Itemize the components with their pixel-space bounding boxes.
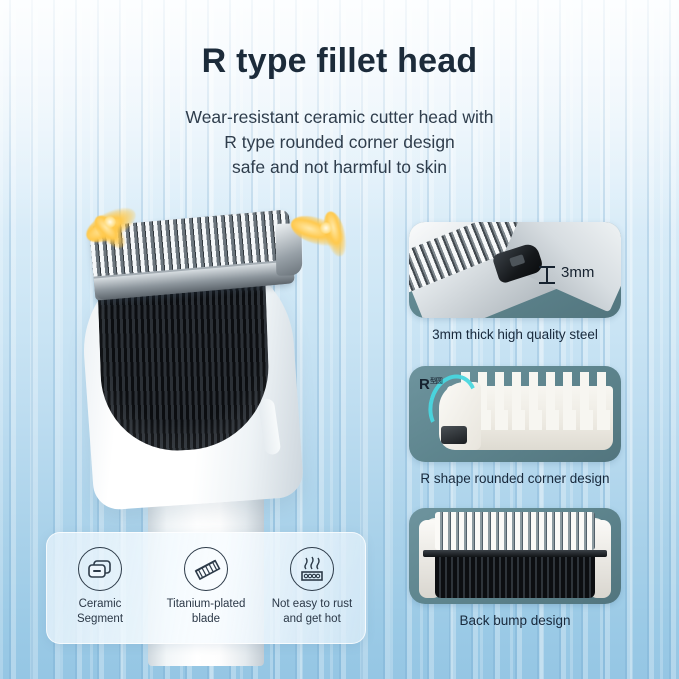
subtitle-line-1: Wear-resistant ceramic cutter head with (0, 105, 679, 130)
comb-teeth (461, 372, 611, 430)
heat-waves-glyph (291, 548, 333, 590)
page-title: R type fillet head (0, 42, 679, 81)
dimension-annotation: 3mm (561, 264, 594, 281)
panel-caption: Back bump design (409, 613, 621, 628)
feature-badge-card: Ceramic Segment Titanium-plated blade (46, 532, 366, 644)
feature-label: Ceramic Segment (50, 597, 150, 627)
r-marker-label: R型圆 (419, 376, 442, 393)
panel-thumb-blade-head (409, 508, 621, 604)
feature-label-line2: Segment (77, 613, 123, 625)
r-marker-superscript: 型圆 (430, 378, 442, 385)
subtitle-line-3: safe and not harmful to skin (0, 155, 679, 180)
product-infographic: R type fillet head Wear-resistant cerami… (0, 0, 679, 679)
panel-thumb-angled-blade: 3mm (409, 222, 621, 318)
caliper-marker-icon (539, 266, 557, 284)
feature-label-line1: Titanium-plated (167, 598, 246, 610)
ceramic-segment-icon (78, 547, 122, 591)
panel-caption: R shape rounded corner design (409, 471, 621, 486)
feature-label-line2: and get hot (283, 613, 341, 625)
r-marker-letter: R (419, 376, 430, 393)
comb-dark-chip (441, 426, 467, 444)
feature-label: Not easy to rust and get hot (262, 597, 362, 627)
titanium-blade-glyph (185, 548, 227, 590)
feature-label: Titanium-plated blade (156, 597, 256, 627)
panel-r-shape: R型圆 R shape rounded corner design (409, 366, 621, 486)
blade-tip (275, 223, 302, 275)
blade-black-body (435, 557, 595, 598)
panel-back-bump: Back bump design (409, 508, 621, 628)
caliper-bottom-bar (539, 282, 555, 284)
feature-label-line1: Ceramic (79, 598, 122, 610)
heat-rust-icon (290, 547, 334, 591)
panel-caption: 3mm thick high quality steel (409, 327, 621, 342)
feature-label-line1: Not easy to rust (272, 598, 353, 610)
panel-thumb-comb-teeth: R型圆 (409, 366, 621, 462)
blade-teeth (435, 512, 595, 550)
subtitle-line-2: R type rounded corner design (0, 130, 679, 155)
sparkle-core (320, 222, 332, 234)
blade-cross-bar (423, 550, 607, 557)
trimmer-side-notch (258, 398, 282, 456)
ceramic-segment-glyph (79, 548, 121, 590)
feature-rust-heat: Not easy to rust and get hot (262, 547, 362, 627)
feature-titanium-blade: Titanium-plated blade (156, 547, 256, 627)
page-subtitle: Wear-resistant ceramic cutter head with … (0, 105, 679, 180)
sparkle-wing (320, 209, 351, 258)
feature-ceramic-segment: Ceramic Segment (50, 547, 150, 627)
titanium-blade-icon (184, 547, 228, 591)
panel-thick-steel: 3mm 3mm thick high quality steel (409, 222, 621, 342)
feature-label-line2: blade (192, 613, 220, 625)
